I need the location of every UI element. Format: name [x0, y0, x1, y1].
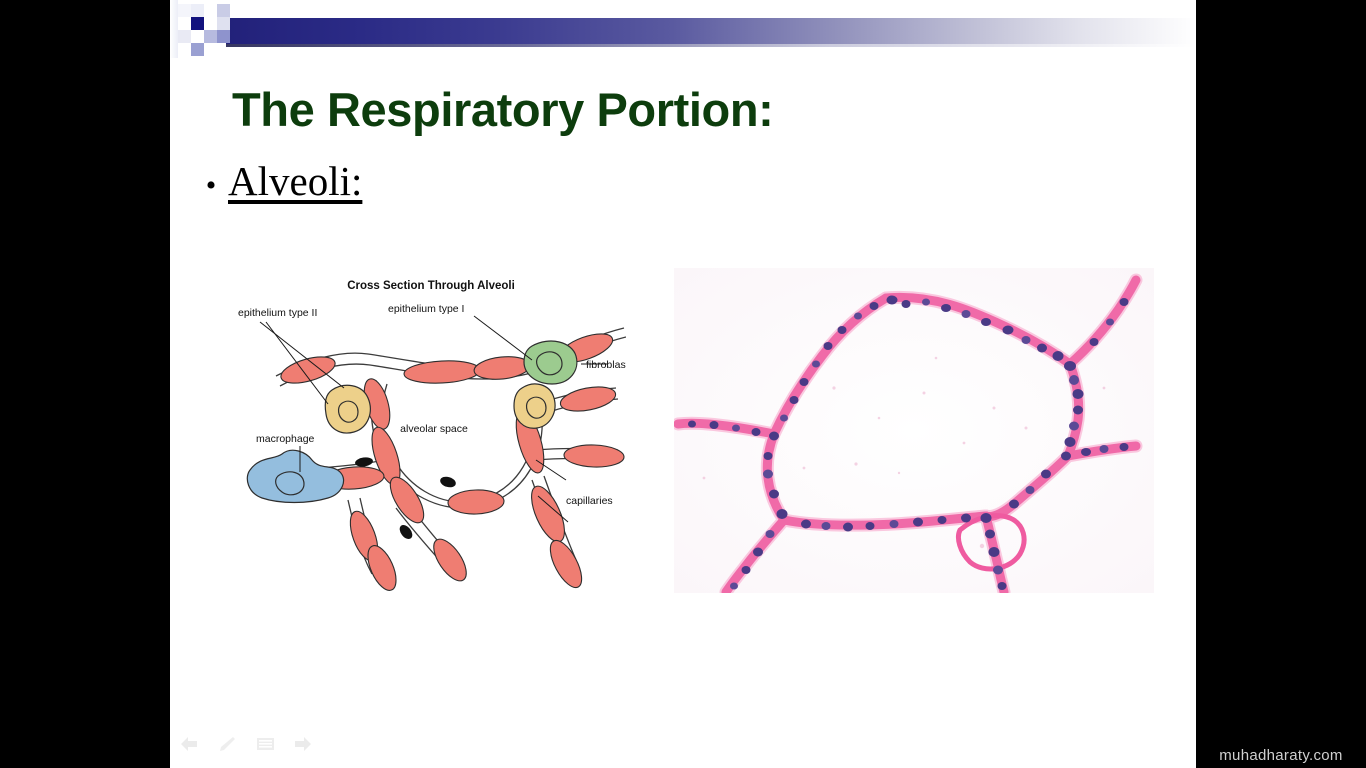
slide-header-decoration: [170, 0, 1196, 58]
label-fibroblast: fibroblast: [586, 359, 626, 371]
epithelium-type-ii-cell: [325, 385, 370, 433]
checker-square: [178, 17, 191, 30]
checker-square: [178, 30, 191, 43]
checker-square: [217, 30, 230, 43]
checker-square: [191, 17, 204, 30]
slide-body: • Alveoli:: [194, 158, 1094, 205]
slide-canvas: The Respiratory Portion: • Alveoli: .cap…: [170, 0, 1196, 768]
pen-icon[interactable]: [216, 734, 238, 754]
presentation-toolbar[interactable]: [178, 732, 314, 756]
bullet-marker-icon: •: [194, 171, 228, 201]
label-macrophage: macrophage: [256, 433, 315, 445]
checker-square: [217, 17, 230, 30]
checker-square: [191, 30, 204, 43]
checker-square: [191, 4, 204, 17]
checker-square: [170, 0, 178, 58]
cross-section-through-alveoli-diagram: .cap { fill:#ef7d72; stroke:#2e2e2e; str…: [236, 264, 626, 594]
slide-title: The Respiratory Portion:: [232, 81, 1132, 139]
label-capillaries: capillaries: [566, 495, 613, 507]
checker-square: [178, 4, 191, 17]
forward-arrow-icon[interactable]: [292, 734, 314, 754]
watermark: muhadharaty.com: [1196, 744, 1366, 768]
presentation-stage: The Respiratory Portion: • Alveoli: .cap…: [0, 0, 1366, 768]
checker-square: [204, 4, 217, 17]
checker-square: [217, 4, 230, 17]
alveoli-histology-micrograph: .sep { fill:none; stroke:#f06aa8; stroke…: [674, 268, 1154, 593]
label-epithelium-type-i: epithelium type I: [388, 303, 464, 315]
header-gradient-bar: [226, 18, 1196, 44]
checker-square: [204, 17, 217, 30]
back-arrow-icon[interactable]: [178, 734, 200, 754]
figures-row: .cap { fill:#ef7d72; stroke:#2e2e2e; str…: [170, 262, 1196, 602]
diagram-caption: Cross Section Through Alveoli: [347, 280, 515, 292]
label-epithelium-type-ii: epithelium type II: [238, 307, 317, 319]
header-bar-shadow: [226, 44, 1196, 47]
list-item: • Alveoli:: [194, 158, 1094, 205]
menu-icon[interactable]: [254, 734, 276, 754]
checker-square: [191, 43, 204, 56]
bullet-text: Alveoli:: [228, 158, 362, 205]
checker-square: [204, 43, 217, 56]
label-alveolar-space: alveolar space: [400, 423, 468, 435]
fibroblast-cell: [524, 341, 577, 384]
checker-square: [204, 30, 217, 43]
